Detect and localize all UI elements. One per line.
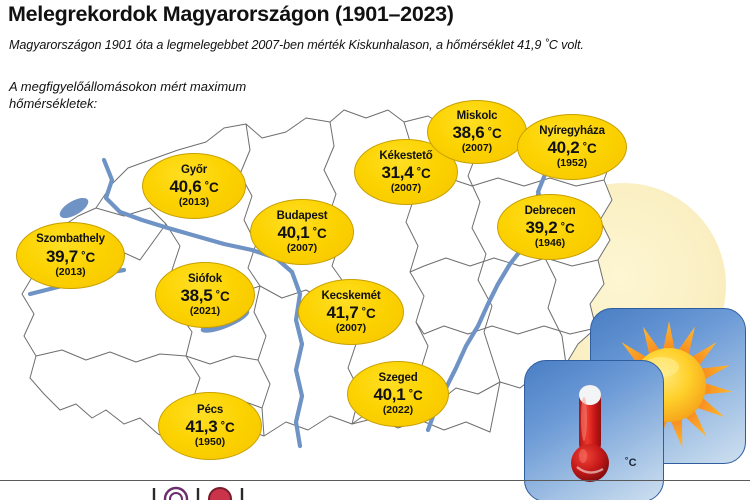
station-year: (2013) bbox=[55, 267, 85, 278]
station-year: (2007) bbox=[391, 183, 421, 194]
station-temperature: 31,4 ˚C bbox=[382, 164, 431, 181]
station-name: Győr bbox=[181, 165, 207, 177]
subtitle-text: Magyarországon 1901 óta a legmelegebbet … bbox=[9, 38, 584, 52]
temperature-value: 39,2 bbox=[526, 218, 558, 237]
station-temperature: 38,5 ˚C bbox=[181, 287, 230, 304]
station-year: (2007) bbox=[336, 323, 366, 334]
station-temperature: 40,6 ˚C bbox=[170, 178, 219, 195]
station-bubble[interactable]: Budapest40,1 ˚C(2007) bbox=[250, 199, 354, 265]
station-year: (1952) bbox=[557, 158, 587, 169]
temperature-unit: ˚C bbox=[557, 221, 574, 236]
station-year: (2007) bbox=[287, 243, 317, 254]
station-temperature: 41,7 ˚C bbox=[327, 304, 376, 321]
station-temperature: 39,2 ˚C bbox=[526, 219, 575, 236]
station-bubble[interactable]: Siófok38,5 ˚C(2021) bbox=[155, 262, 255, 328]
station-bubble[interactable]: Szeged40,1 ˚C(2022) bbox=[347, 361, 449, 427]
station-temperature: 41,3 ˚C bbox=[186, 418, 235, 435]
degree-celsius-label: ˚C bbox=[625, 457, 637, 469]
temperature-unit: ˚C bbox=[579, 141, 596, 156]
station-year: (1950) bbox=[195, 437, 225, 448]
station-name: Kecskemét bbox=[322, 291, 381, 303]
temperature-unit: ˚C bbox=[405, 388, 422, 403]
temperature-unit: ˚C bbox=[212, 289, 229, 304]
station-name: Debrecen bbox=[525, 206, 576, 218]
temperature-unit: ˚C bbox=[484, 126, 501, 141]
thermometer-icon bbox=[555, 379, 625, 485]
station-temperature: 38,6 ˚C bbox=[453, 124, 502, 141]
station-name: Miskolc bbox=[457, 111, 498, 123]
footer-divider bbox=[0, 480, 750, 481]
temperature-unit: ˚C bbox=[358, 306, 375, 321]
infographic-root: Melegrekordok Magyarországon (1901–2023)… bbox=[0, 0, 750, 500]
temperature-value: 38,6 bbox=[453, 123, 485, 142]
station-bubble[interactable]: Szombathely39,7 ˚C(2013) bbox=[16, 222, 125, 289]
temperature-value: 41,7 bbox=[327, 303, 359, 322]
temperature-unit: ˚C bbox=[78, 250, 95, 265]
station-name: Szombathely bbox=[36, 234, 105, 246]
station-temperature: 40,1 ˚C bbox=[374, 386, 423, 403]
station-bubble[interactable]: Nyíregyháza40,2 ˚C(1952) bbox=[517, 114, 627, 180]
temperature-unit: ˚C bbox=[201, 180, 218, 195]
station-name: Kékestető bbox=[379, 151, 432, 163]
page-title: Melegrekordok Magyarországon (1901–2023) bbox=[8, 2, 454, 27]
temperature-value: 41,3 bbox=[186, 417, 218, 436]
temperature-value: 39,7 bbox=[46, 247, 78, 266]
station-temperature: 40,2 ˚C bbox=[548, 139, 597, 156]
station-year: (2007) bbox=[462, 143, 492, 154]
thermometer-tile: ˚C bbox=[524, 360, 664, 500]
station-bubble[interactable]: Pécs41,3 ˚C(1950) bbox=[158, 392, 262, 460]
station-name: Siófok bbox=[188, 274, 222, 286]
temperature-value: 31,4 bbox=[382, 163, 414, 182]
footer-logo bbox=[150, 486, 330, 500]
station-name: Nyíregyháza bbox=[539, 126, 605, 138]
temperature-unit: ˚C bbox=[309, 226, 326, 241]
station-year: (2013) bbox=[179, 197, 209, 208]
temperature-value: 40,1 bbox=[278, 223, 310, 242]
temperature-value: 40,2 bbox=[548, 138, 580, 157]
temperature-value: 40,6 bbox=[170, 177, 202, 196]
station-name: Budapest bbox=[277, 211, 328, 223]
station-bubble[interactable]: Debrecen39,2 ˚C(1946) bbox=[497, 194, 603, 260]
station-bubble[interactable]: Miskolc38,6 ˚C(2007) bbox=[427, 100, 527, 164]
temperature-unit: ˚C bbox=[217, 420, 234, 435]
station-bubble[interactable]: Kecskemét41,7 ˚C(2007) bbox=[298, 279, 404, 345]
footer-logo-icon bbox=[150, 486, 330, 500]
temperature-value: 40,1 bbox=[374, 385, 406, 404]
temperature-value: 38,5 bbox=[181, 286, 213, 305]
station-name: Pécs bbox=[197, 405, 223, 417]
station-temperature: 39,7 ˚C bbox=[46, 248, 95, 265]
station-bubble[interactable]: Győr40,6 ˚C(2013) bbox=[142, 153, 246, 219]
station-year: (2021) bbox=[190, 306, 220, 317]
station-name: Szeged bbox=[378, 373, 417, 385]
temperature-unit: ˚C bbox=[413, 166, 430, 181]
station-temperature: 40,1 ˚C bbox=[278, 224, 327, 241]
station-year: (2022) bbox=[383, 405, 413, 416]
station-year: (1946) bbox=[535, 238, 565, 249]
